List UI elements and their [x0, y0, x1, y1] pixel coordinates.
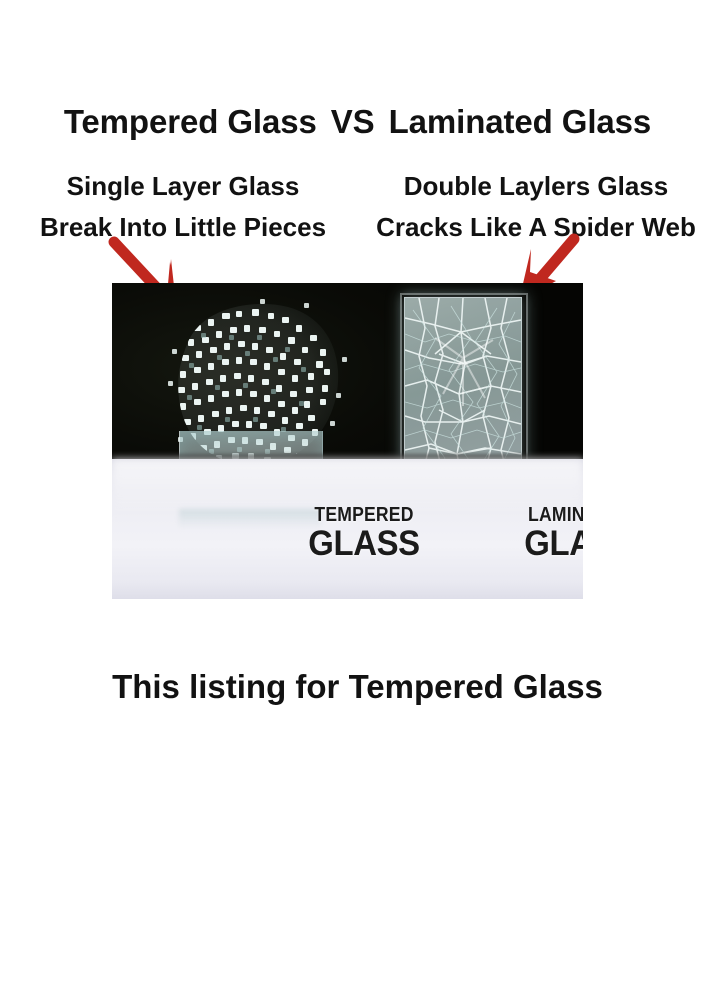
photo-label-tempered-bottom: GLASS: [261, 526, 468, 561]
caption-laminated-line1: Double Laylers Glass: [360, 166, 712, 207]
title-right-type: Laminated Glass: [389, 103, 652, 140]
title-left-type: Tempered Glass: [64, 103, 317, 140]
photo-label-tempered: TEMPERED GLASS: [254, 505, 474, 561]
title-vs-separator: VS: [317, 103, 389, 140]
glass-comparison-photo: TEMPERED GLASS LAMINATED GLASS: [112, 283, 583, 599]
caption-tempered: Single Layer Glass Break Into Little Pie…: [8, 166, 358, 248]
page-title: Tempered GlassVSLaminated Glass: [0, 103, 715, 141]
caption-tempered-line1: Single Layer Glass: [8, 166, 358, 207]
photo-label-laminated-bottom: GLASS: [478, 526, 583, 561]
caption-laminated: Double Laylers Glass Cracks Like A Spide…: [360, 166, 712, 248]
photo-label-tempered-top: TEMPERED: [267, 505, 461, 525]
photo-label-laminated-top: LAMINATED: [485, 505, 583, 525]
glass-comparison-infographic: Tempered GlassVSLaminated Glass Single L…: [0, 0, 715, 1002]
caption-row: Single Layer Glass Break Into Little Pie…: [0, 166, 715, 244]
photo-label-laminated: LAMINATED GLASS: [472, 505, 583, 561]
caption-laminated-line2: Cracks Like A Spider Web: [360, 207, 712, 248]
caption-tempered-line2: Break Into Little Pieces: [8, 207, 358, 248]
listing-note: This listing for Tempered Glass: [0, 668, 715, 706]
